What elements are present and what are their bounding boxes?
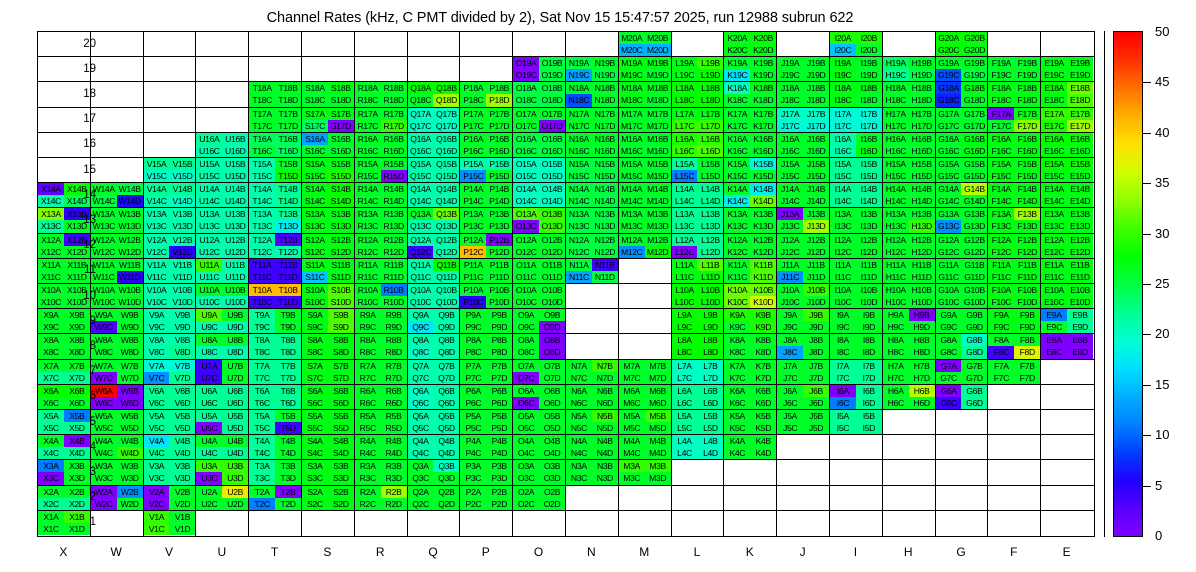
channel-P13A[interactable]: P13A — [460, 208, 486, 220]
channel-K5A[interactable]: K5A — [724, 410, 750, 422]
channel-K5D[interactable]: K5D — [750, 422, 776, 434]
channel-I13C[interactable]: I13C — [830, 220, 856, 232]
channel-S14D[interactable]: S14D — [328, 195, 354, 207]
channel-U5C[interactable]: U5C — [196, 422, 222, 434]
channel-G7A[interactable]: G7A — [936, 360, 962, 372]
channel-S3A[interactable]: S3A — [302, 460, 328, 472]
channel-H16D[interactable]: H16D — [909, 145, 935, 157]
heatmap-cell-K16[interactable]: K16AK16BK16CK16D — [724, 133, 777, 158]
channel-G7C[interactable]: G7C — [936, 372, 962, 384]
channel-Q12B[interactable]: Q12B — [433, 234, 459, 246]
channel-R6D[interactable]: R6D — [381, 397, 407, 409]
heatmap-cell-K18[interactable]: K18AK18BK18CK18D — [724, 82, 777, 107]
channel-L8C[interactable]: L8C — [672, 346, 698, 358]
channel-P17A[interactable]: P17A — [460, 108, 486, 120]
heatmap-cell-S2[interactable]: S2AS2BS2CS2D — [302, 486, 355, 511]
heatmap-cell-U2[interactable]: U2AU2BU2CU2D — [196, 486, 249, 511]
channel-Q5A[interactable]: Q5A — [408, 410, 434, 422]
heatmap-cell-L9[interactable]: L9AL9BL9CL9D — [672, 309, 725, 334]
heatmap-cell-T9[interactable]: T9AT9BT9CT9D — [249, 309, 302, 334]
channel-M15C[interactable]: M15C — [619, 170, 645, 182]
channel-V1A[interactable]: V1A — [144, 511, 170, 523]
heatmap-cell-W3[interactable]: W3AW3BW3CW3D — [91, 460, 144, 485]
channel-R15A[interactable]: R15A — [355, 158, 381, 170]
channel-O17A[interactable]: O17A — [513, 108, 539, 120]
channel-J11D[interactable]: J11D — [803, 271, 829, 283]
channel-E11A[interactable]: E11A — [1041, 259, 1067, 271]
channel-J5B[interactable]: J5B — [803, 410, 829, 422]
channel-E17D[interactable]: E17D — [1067, 120, 1093, 132]
heatmap-cell-N10[interactable] — [566, 284, 619, 309]
channel-F19D[interactable]: F19D — [1014, 69, 1040, 81]
channel-P16A[interactable]: P16A — [460, 133, 486, 145]
channel-G20C[interactable]: G20C — [936, 44, 962, 56]
channel-N4B[interactable]: N4B — [592, 435, 618, 447]
channel-V7A[interactable]: V7A — [144, 360, 170, 372]
channel-M5D[interactable]: M5D — [645, 422, 671, 434]
heatmap-cell-S6[interactable]: S6AS6BS6CS6D — [302, 385, 355, 410]
channel-Q10D[interactable]: Q10D — [433, 296, 459, 308]
channel-R16A[interactable]: R16A — [355, 133, 381, 145]
channel-J9D[interactable]: J9D — [803, 321, 829, 333]
channel-S9B[interactable]: S9B — [328, 309, 354, 321]
channel-F16B[interactable]: F16B — [1014, 133, 1040, 145]
channel-I12D[interactable]: I12D — [856, 246, 882, 258]
heatmap-cell-R3[interactable]: R3AR3BR3CR3D — [355, 460, 408, 485]
channel-G14C[interactable]: G14C — [936, 195, 962, 207]
channel-W4B[interactable]: W4B — [117, 435, 143, 447]
channel-L6B[interactable]: L6B — [697, 385, 723, 397]
channel-S4A[interactable]: S4A — [302, 435, 328, 447]
channel-F15A[interactable]: F15A — [988, 158, 1014, 170]
channel-E16A[interactable]: E16A — [1041, 133, 1067, 145]
channel-F9B[interactable]: F9B — [1014, 309, 1040, 321]
heatmap-cell-O18[interactable]: O18AO18BO18CO18D — [513, 82, 566, 107]
heatmap-cell-V11[interactable]: V11AV11BV11CV11D — [144, 259, 197, 284]
channel-T7A[interactable]: T7A — [249, 360, 275, 372]
heatmap-cell-J3[interactable] — [777, 460, 830, 485]
channel-G13C[interactable]: G13C — [936, 220, 962, 232]
heatmap-cell-V10[interactable]: V10AV10BV10CV10D — [144, 284, 197, 309]
heatmap-cell-L20[interactable] — [672, 32, 725, 57]
channel-T15C[interactable]: T15C — [249, 170, 275, 182]
channel-K8A[interactable]: K8A — [724, 334, 750, 346]
channel-E17B[interactable]: E17B — [1067, 108, 1093, 120]
heatmap-cell-G15[interactable]: G15AG15BG15CG15D — [936, 158, 989, 183]
channel-M12C[interactable]: M12C — [619, 246, 645, 258]
channel-H6A[interactable]: H6A — [883, 385, 909, 397]
channel-F12A[interactable]: F12A — [988, 234, 1014, 246]
channel-V8A[interactable]: V8A — [144, 334, 170, 346]
channel-K19C[interactable]: K19C — [724, 69, 750, 81]
channel-E18B[interactable]: E18B — [1067, 82, 1093, 94]
heatmap-cell-L12[interactable]: L12AL12BL12CL12D — [672, 234, 725, 259]
channel-P6D[interactable]: P6D — [486, 397, 512, 409]
channel-I19B[interactable]: I19B — [856, 57, 882, 69]
channel-P3C[interactable]: P3C — [460, 472, 486, 484]
channel-N7D[interactable]: N7D — [592, 372, 618, 384]
channel-F7D[interactable]: F7D — [1014, 372, 1040, 384]
channel-M7B[interactable]: M7B — [645, 360, 671, 372]
channel-V9A[interactable]: V9A — [144, 309, 170, 321]
channel-U7C[interactable]: U7C — [196, 372, 222, 384]
channel-L8B[interactable]: L8B — [697, 334, 723, 346]
channel-Q2C[interactable]: Q2C — [408, 498, 434, 510]
channel-I13A[interactable]: I13A — [830, 208, 856, 220]
channel-N11B[interactable]: N11B — [592, 259, 618, 271]
heatmap-cell-S9[interactable]: S9AS9BS9CS9D — [302, 309, 355, 334]
channel-P14A[interactable]: P14A — [460, 183, 486, 195]
heatmap-cell-H1[interactable] — [883, 511, 936, 536]
channel-W11D[interactable]: W11D — [117, 271, 143, 283]
channel-J8A[interactable]: J8A — [777, 334, 803, 346]
heatmap-cell-S17[interactable]: S17AS17BS17CS17D — [302, 108, 355, 133]
channel-Q8B[interactable]: Q8B — [433, 334, 459, 346]
heatmap-cell-N14[interactable]: N14AN14BN14CN14D — [566, 183, 619, 208]
heatmap-cell-S18[interactable]: S18AS18BS18CS18D — [302, 82, 355, 107]
channel-L9B[interactable]: L9B — [697, 309, 723, 321]
channel-X7A[interactable]: X7A — [38, 360, 64, 372]
heatmap-cell-U11[interactable]: U11AU11BU11CU11D — [196, 259, 249, 284]
channel-L10A[interactable]: L10A — [672, 284, 698, 296]
heatmap-cell-E12[interactable]: E12AE12BE12CE12D — [1041, 234, 1094, 259]
channel-G10C[interactable]: G10C — [936, 296, 962, 308]
heatmap-cell-S8[interactable]: S8AS8BS8CS8D — [302, 334, 355, 359]
channel-O6C[interactable]: O6C — [513, 397, 539, 409]
heatmap-cell-T13[interactable]: T13AT13BT13CT13D — [249, 208, 302, 233]
channel-H16B[interactable]: H16B — [909, 133, 935, 145]
channel-T3B[interactable]: T3B — [275, 460, 301, 472]
heatmap-cell-H19[interactable]: H19AH19BH19CH19D — [883, 57, 936, 82]
heatmap-cell-Q12[interactable]: Q12AQ12BQ12CQ12D — [408, 234, 461, 259]
channel-J9A[interactable]: J9A — [777, 309, 803, 321]
channel-T8D[interactable]: T8D — [275, 346, 301, 358]
channel-L15D[interactable]: L15D — [697, 170, 723, 182]
channel-K8C[interactable]: K8C — [724, 346, 750, 358]
channel-R12A[interactable]: R12A — [355, 234, 381, 246]
channel-L18A[interactable]: L18A — [672, 82, 698, 94]
channel-G15A[interactable]: G15A — [936, 158, 962, 170]
heatmap-cell-J13[interactable]: J13AJ13BJ13CJ13D — [777, 208, 830, 233]
channel-S14B[interactable]: S14B — [328, 183, 354, 195]
channel-X10A[interactable]: X10A — [38, 284, 64, 296]
channel-O6B[interactable]: O6B — [539, 385, 565, 397]
channel-R3C[interactable]: R3C — [355, 472, 381, 484]
heatmap-cell-M12[interactable]: M12AM12BM12CM12D — [619, 234, 672, 259]
channel-W14B[interactable]: W14B — [117, 183, 143, 195]
heatmap-cell-F17[interactable]: F17AF17BF17CF17D — [988, 108, 1041, 133]
channel-R2B[interactable]: R2B — [381, 486, 407, 498]
channel-J7C[interactable]: J7C — [777, 372, 803, 384]
heatmap-cell-S11[interactable]: S11AS11BS11CS11D — [302, 259, 355, 284]
channel-I7A[interactable]: I7A — [830, 360, 856, 372]
heatmap-cell-U4[interactable]: U4AU4BU4CU4D — [196, 435, 249, 460]
channel-M4A[interactable]: M4A — [619, 435, 645, 447]
channel-U10B[interactable]: U10B — [222, 284, 248, 296]
channel-I5B[interactable]: I5B — [856, 410, 882, 422]
channel-S15C[interactable]: S15C — [302, 170, 328, 182]
heatmap-cell-S4[interactable]: S4AS4BS4CS4D — [302, 435, 355, 460]
heatmap-cell-W20[interactable] — [91, 32, 144, 57]
heatmap-cell-H7[interactable]: H7AH7BH7CH7D — [883, 360, 936, 385]
channel-Q10C[interactable]: Q10C — [408, 296, 434, 308]
channel-H6D[interactable]: H6D — [909, 397, 935, 409]
heatmap-cell-P6[interactable]: P6AP6BP6CP6D — [460, 385, 513, 410]
channel-K6B[interactable]: K6B — [750, 385, 776, 397]
channel-N4A[interactable]: N4A — [566, 435, 592, 447]
channel-J14B[interactable]: J14B — [803, 183, 829, 195]
channel-O15C[interactable]: O15C — [513, 170, 539, 182]
channel-M15B[interactable]: M15B — [645, 158, 671, 170]
heatmap-cell-V6[interactable]: V6AV6BV6CV6D — [144, 385, 197, 410]
heatmap-cell-W11[interactable]: W11AW11BW11CW11D — [91, 259, 144, 284]
channel-H19A[interactable]: H19A — [883, 57, 909, 69]
heatmap-cell-G3[interactable] — [936, 460, 989, 485]
channel-J14D[interactable]: J14D — [803, 195, 829, 207]
channel-E9A[interactable]: E9A — [1041, 309, 1067, 321]
channel-N11A[interactable]: N11A — [566, 259, 592, 271]
heatmap-cell-F6[interactable] — [988, 385, 1041, 410]
channel-J5A[interactable]: J5A — [777, 410, 803, 422]
channel-W12D[interactable]: W12D — [117, 246, 143, 258]
channel-O3D[interactable]: O3D — [539, 472, 565, 484]
channel-T8B[interactable]: T8B — [275, 334, 301, 346]
channel-P8C[interactable]: P8C — [460, 346, 486, 358]
channel-J6D[interactable]: J6D — [803, 397, 829, 409]
channel-R10C[interactable]: R10C — [355, 296, 381, 308]
channel-P18B[interactable]: P18B — [486, 82, 512, 94]
heatmap-cell-E6[interactable] — [1041, 385, 1094, 410]
channel-T10A[interactable]: T10A — [249, 284, 275, 296]
heatmap-cell-F15[interactable]: F15AF15BF15CF15D — [988, 158, 1041, 183]
heatmap-cell-F16[interactable]: F16AF16BF16CF16D — [988, 133, 1041, 158]
channel-K12C[interactable]: K12C — [724, 246, 750, 258]
channel-E18A[interactable]: E18A — [1041, 82, 1067, 94]
channel-U6D[interactable]: U6D — [222, 397, 248, 409]
channel-I14D[interactable]: I14D — [856, 195, 882, 207]
channel-O3B[interactable]: O3B — [539, 460, 565, 472]
channel-V7D[interactable]: V7D — [169, 372, 195, 384]
heatmap-cell-M3[interactable]: M3AM3BM3CM3D — [619, 460, 672, 485]
heatmap-cell-L8[interactable]: L8AL8BL8CL8D — [672, 334, 725, 359]
channel-R16B[interactable]: R16B — [381, 133, 407, 145]
heatmap-cell-O20[interactable] — [513, 32, 566, 57]
channel-H8A[interactable]: H8A — [883, 334, 909, 346]
heatmap-cell-U3[interactable]: U3AU3BU3CU3D — [196, 460, 249, 485]
heatmap-cell-P4[interactable]: P4AP4BP4CP4D — [460, 435, 513, 460]
channel-P15C[interactable]: P15C — [460, 170, 486, 182]
channel-G9B[interactable]: G9B — [961, 309, 987, 321]
channel-E15C[interactable]: E15C — [1041, 170, 1067, 182]
heatmap-cell-U5[interactable]: U5AU5BU5CU5D — [196, 410, 249, 435]
channel-P9B[interactable]: P9B — [486, 309, 512, 321]
heatmap-cell-N13[interactable]: N13AN13BN13CN13D — [566, 208, 619, 233]
heatmap-cell-E10[interactable]: E10AE10BE10CE10D — [1041, 284, 1094, 309]
channel-T6D[interactable]: T6D — [275, 397, 301, 409]
channel-I5D[interactable]: I5D — [856, 422, 882, 434]
channel-E12C[interactable]: E12C — [1041, 246, 1067, 258]
channel-O10D[interactable]: O10D — [539, 296, 565, 308]
heatmap-cell-P9[interactable]: P9AP9BP9CP9D — [460, 309, 513, 334]
channel-S9D[interactable]: S9D — [328, 321, 354, 333]
channel-R7C[interactable]: R7C — [355, 372, 381, 384]
channel-W5D[interactable]: W5D — [117, 422, 143, 434]
channel-H10C[interactable]: H10C — [883, 296, 909, 308]
channel-K17D[interactable]: K17D — [750, 120, 776, 132]
heatmap-cell-W17[interactable] — [91, 108, 144, 133]
channel-Q10A[interactable]: Q10A — [408, 284, 434, 296]
channel-W12B[interactable]: W12B — [117, 234, 143, 246]
heatmap-cell-F19[interactable]: F19AF19BF19CF19D — [988, 57, 1041, 82]
channel-L10B[interactable]: L10B — [697, 284, 723, 296]
channel-M20C[interactable]: M20C — [619, 44, 645, 56]
channel-E14B[interactable]: E14B — [1067, 183, 1093, 195]
heatmap-cell-O1[interactable] — [513, 511, 566, 536]
channel-U9B[interactable]: U9B — [222, 309, 248, 321]
channel-S4C[interactable]: S4C — [302, 447, 328, 459]
channel-F8A[interactable]: F8A — [988, 334, 1014, 346]
heatmap-cell-W2[interactable]: W2AW2BW2CW2D — [91, 486, 144, 511]
channel-F15C[interactable]: F15C — [988, 170, 1014, 182]
channel-N7B[interactable]: N7B — [592, 360, 618, 372]
channel-E11D[interactable]: E11D — [1067, 271, 1093, 283]
heatmap-cell-K2[interactable] — [724, 486, 777, 511]
channel-M17B[interactable]: M17B — [645, 108, 671, 120]
channel-G19D[interactable]: G19D — [961, 69, 987, 81]
channel-N3B[interactable]: N3B — [592, 460, 618, 472]
heatmap-cell-I14[interactable]: I14AI14BI14CI14D — [830, 183, 883, 208]
channel-Q9B[interactable]: Q9B — [433, 309, 459, 321]
channel-I8B[interactable]: I8B — [856, 334, 882, 346]
channel-H18D[interactable]: H18D — [909, 94, 935, 106]
heatmap-cell-U19[interactable] — [196, 57, 249, 82]
channel-Q6B[interactable]: Q6B — [433, 385, 459, 397]
channel-L8A[interactable]: L8A — [672, 334, 698, 346]
heatmap-cell-P13[interactable]: P13AP13BP13CP13D — [460, 208, 513, 233]
channel-F16D[interactable]: F16D — [1014, 145, 1040, 157]
channel-H11B[interactable]: H11B — [909, 259, 935, 271]
channel-L11B[interactable]: L11B — [697, 259, 723, 271]
channel-M18C[interactable]: M18C — [619, 94, 645, 106]
heatmap-cell-T4[interactable]: T4AT4BT4CT4D — [249, 435, 302, 460]
channel-H15C[interactable]: H15C — [883, 170, 909, 182]
channel-N4C[interactable]: N4C — [566, 447, 592, 459]
channel-U11B[interactable]: U11B — [222, 259, 248, 271]
channel-K20B[interactable]: K20B — [750, 32, 776, 44]
channel-L15A[interactable]: L15A — [672, 158, 698, 170]
channel-K13A[interactable]: K13A — [724, 208, 750, 220]
channel-P13B[interactable]: P13B — [486, 208, 512, 220]
channel-F7B[interactable]: F7B — [1014, 360, 1040, 372]
channel-X5C[interactable]: X5C — [38, 422, 64, 434]
channel-O15B[interactable]: O15B — [539, 158, 565, 170]
heatmap-cell-I2[interactable] — [830, 486, 883, 511]
channel-P2B[interactable]: P2B — [486, 486, 512, 498]
heatmap-cell-W4[interactable]: W4AW4BW4CW4D — [91, 435, 144, 460]
channel-V2A[interactable]: V2A — [144, 486, 170, 498]
channel-G17B[interactable]: G17B — [961, 108, 987, 120]
channel-V10A[interactable]: V10A — [144, 284, 170, 296]
heatmap-cell-V4[interactable]: V4AV4BV4CV4D — [144, 435, 197, 460]
channel-Q18B[interactable]: Q18B — [433, 82, 459, 94]
channel-O4C[interactable]: O4C — [513, 447, 539, 459]
heatmap-cell-I12[interactable]: I12AI12BI12CI12D — [830, 234, 883, 259]
heatmap-cell-G11[interactable]: G11AG11BG11CG11D — [936, 259, 989, 284]
channel-N3D[interactable]: N3D — [592, 472, 618, 484]
channel-O8D[interactable]: O8D — [539, 346, 565, 358]
channel-K18A[interactable]: K18A — [724, 82, 750, 94]
heatmap-cell-H13[interactable]: H13AH13BH13CH13D — [883, 208, 936, 233]
channel-N4D[interactable]: N4D — [592, 447, 618, 459]
channel-M17C[interactable]: M17C — [619, 120, 645, 132]
heatmap-cell-R5[interactable]: R5AR5BR5CR5D — [355, 410, 408, 435]
channel-Q3C[interactable]: Q3C — [408, 472, 434, 484]
channel-W8B[interactable]: W8B — [117, 334, 143, 346]
heatmap-cell-V9[interactable]: V9AV9BV9CV9D — [144, 309, 197, 334]
channel-K17C[interactable]: K17C — [724, 120, 750, 132]
channel-U5D[interactable]: U5D — [222, 422, 248, 434]
channel-S5A[interactable]: S5A — [302, 410, 328, 422]
channel-O13A[interactable]: O13A — [513, 208, 539, 220]
channel-M6B[interactable]: M6B — [645, 385, 671, 397]
heatmap-cell-J20[interactable] — [777, 32, 830, 57]
channel-I9B[interactable]: I9B — [856, 309, 882, 321]
channel-N6A[interactable]: N6A — [566, 385, 592, 397]
channel-K12D[interactable]: K12D — [750, 246, 776, 258]
channel-G16A[interactable]: G16A — [936, 133, 962, 145]
heatmap-cell-O15[interactable]: O15AO15BO15CO15D — [513, 158, 566, 183]
channel-P10B[interactable]: P10B — [486, 284, 512, 296]
channel-N6C[interactable]: N6C — [566, 397, 592, 409]
heatmap-cell-S15[interactable]: S15AS15BS15CS15D — [302, 158, 355, 183]
channel-P18A[interactable]: P18A — [460, 82, 486, 94]
channel-G13D[interactable]: G13D — [961, 220, 987, 232]
channel-S13A[interactable]: S13A — [302, 208, 328, 220]
channel-P16B[interactable]: P16B — [486, 133, 512, 145]
heatmap-cell-F2[interactable] — [988, 486, 1041, 511]
channel-W6B[interactable]: W6B — [117, 385, 143, 397]
channel-T6C[interactable]: T6C — [249, 397, 275, 409]
channel-W2B[interactable]: W2B — [117, 486, 143, 498]
channel-S4D[interactable]: S4D — [328, 447, 354, 459]
channel-E9C[interactable]: E9C — [1041, 321, 1067, 333]
channel-V4B[interactable]: V4B — [169, 435, 195, 447]
channel-M18D[interactable]: M18D — [645, 94, 671, 106]
heatmap-cell-K20[interactable]: K20AK20BK20CK20D — [724, 32, 777, 57]
heatmap-cell-H2[interactable] — [883, 486, 936, 511]
channel-J8C[interactable]: J8C — [777, 346, 803, 358]
heatmap-cell-H3[interactable] — [883, 460, 936, 485]
heatmap-cell-J5[interactable]: J5AJ5BJ5CJ5D — [777, 410, 830, 435]
channel-K8B[interactable]: K8B — [750, 334, 776, 346]
channel-R11B[interactable]: R11B — [381, 259, 407, 271]
heatmap-cell-N11[interactable]: N11AN11BN11CN11D — [566, 259, 619, 284]
heatmap-cell-W12[interactable]: W12AW12BW12CW12D — [91, 234, 144, 259]
heatmap-cell-O13[interactable]: O13AO13BO13CO13D — [513, 208, 566, 233]
channel-V2C[interactable]: V2C — [144, 498, 170, 510]
channel-K16D[interactable]: K16D — [750, 145, 776, 157]
heatmap-cell-Q6[interactable]: Q6AQ6BQ6CQ6D — [408, 385, 461, 410]
channel-V3B[interactable]: V3B — [169, 460, 195, 472]
channel-E11B[interactable]: E11B — [1067, 259, 1093, 271]
channel-M5A[interactable]: M5A — [619, 410, 645, 422]
heatmap-cell-U8[interactable]: U8AU8BU8CU8D — [196, 334, 249, 359]
channel-H16A[interactable]: H16A — [883, 133, 909, 145]
heatmap-cell-H5[interactable] — [883, 410, 936, 435]
channel-M19B[interactable]: M19B — [645, 57, 671, 69]
channel-T11A[interactable]: T11A — [249, 259, 275, 271]
heatmap-cell-G10[interactable]: G10AG10BG10CG10D — [936, 284, 989, 309]
